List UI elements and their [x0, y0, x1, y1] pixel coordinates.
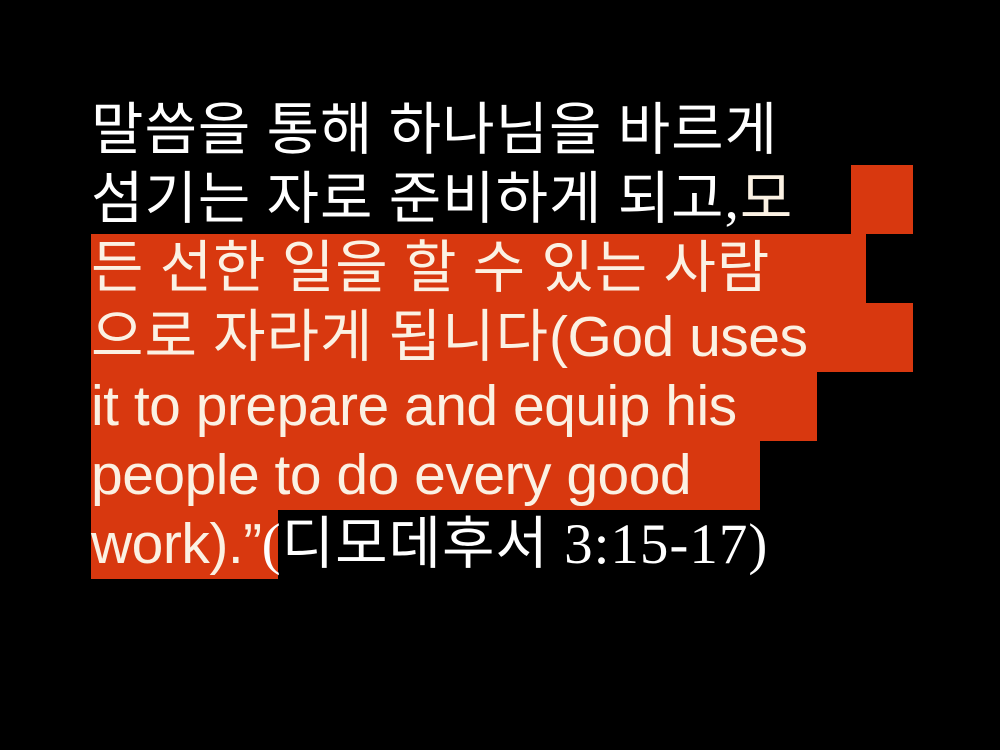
verse-line-6-text: people to do every good: [91, 441, 691, 510]
verse-text-block: 말씀을 통해 하나님을 바르게 섬기는 자로 준비하게 되고, 모 든 선한 일…: [91, 96, 931, 579]
verse-line-3: 든 선한 일을 할 수 있는 사람: [91, 234, 931, 303]
verse-line-7-highlighted-text: work).”: [91, 510, 262, 579]
verse-line-7: work).” (디모데후서 3:15-17): [91, 510, 931, 579]
verse-line-2-text: 섬기는 자로 준비하게 되고,: [91, 165, 740, 234]
verse-line-3-text: 든 선한 일을 할 수 있는 사람: [91, 234, 770, 303]
verse-line-4-korean-text: 으로 자라게 됩니다: [91, 303, 549, 372]
verse-line-4: 으로 자라게 됩니다(God uses: [91, 303, 931, 372]
verse-line-6: people to do every good: [91, 441, 931, 510]
verse-line-1-text: 말씀을 통해 하나님을 바르게: [91, 96, 778, 165]
highlight-block-line-2: [851, 165, 913, 234]
verse-line-2-highlighted-text: 모: [740, 165, 793, 234]
verse-line-2: 섬기는 자로 준비하게 되고, 모: [91, 165, 931, 234]
slide-canvas: 말씀을 통해 하나님을 바르게 섬기는 자로 준비하게 되고, 모 든 선한 일…: [0, 0, 1000, 750]
verse-line-1: 말씀을 통해 하나님을 바르게: [91, 96, 931, 165]
verse-line-5-text: it to prepare and equip his: [91, 372, 737, 441]
verse-line-4-english-text: (God uses: [549, 303, 807, 372]
scripture-reference: (디모데후서 3:15-17): [262, 510, 769, 579]
verse-line-5: it to prepare and equip his: [91, 372, 931, 441]
